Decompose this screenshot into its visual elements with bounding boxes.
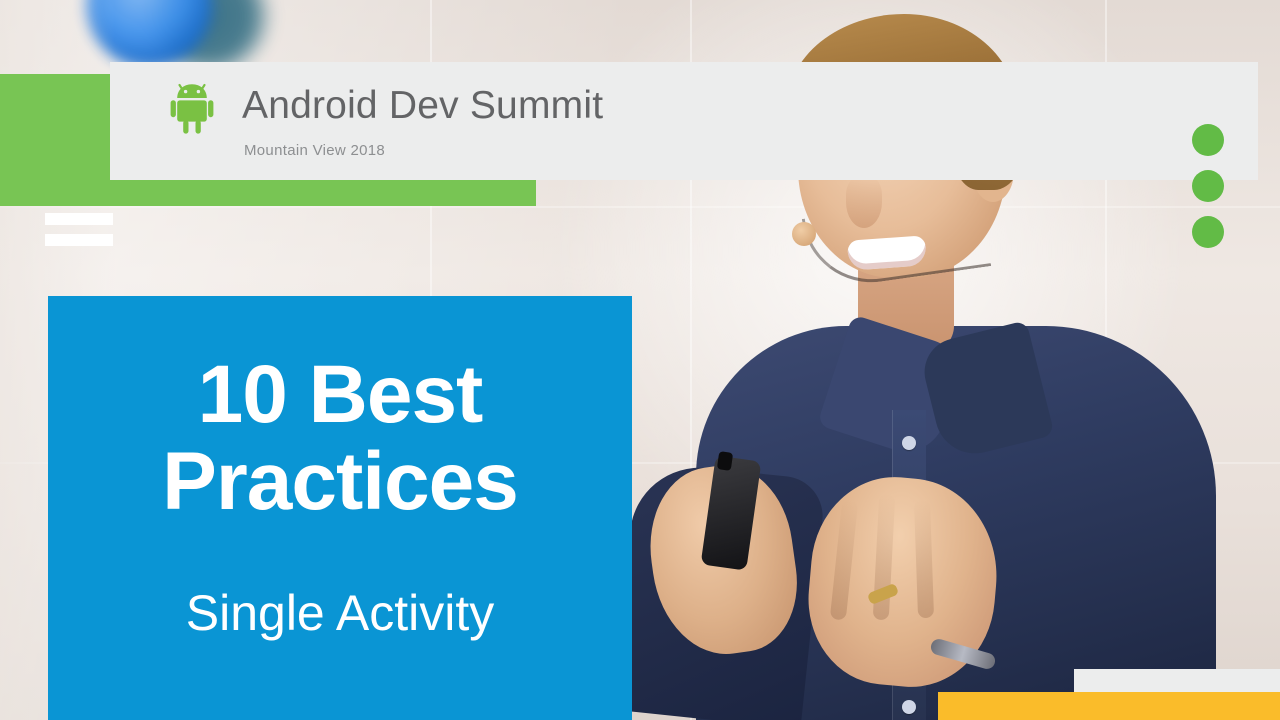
presenter-shirt-button xyxy=(902,436,916,450)
title-main: 10 Best Practices xyxy=(48,352,632,526)
kebab-dot xyxy=(1192,124,1224,156)
white-accent-strip xyxy=(1074,669,1280,693)
kebab-dot xyxy=(1192,216,1224,248)
event-banner-content: Android Dev Summit Mountain View 2018 xyxy=(170,76,603,159)
yellow-accent-block xyxy=(938,692,1280,720)
presentation-clicker-tip xyxy=(717,451,733,471)
title-line-1: 10 Best xyxy=(198,349,483,440)
android-robot-icon xyxy=(170,76,224,134)
event-subtitle: Mountain View 2018 xyxy=(244,142,603,159)
headset-mic-capsule xyxy=(792,222,816,246)
title-line-2: Practices xyxy=(48,439,632,526)
hamburger-bar xyxy=(45,234,113,246)
kebab-dot xyxy=(1192,170,1224,202)
event-banner: Android Dev Summit Mountain View 2018 xyxy=(110,62,1258,180)
thumbnail-stage: Android Dev Summit Mountain View 2018 10… xyxy=(0,0,1280,720)
presenter-shirt-button xyxy=(902,700,916,714)
kebab-menu-icon xyxy=(1192,124,1228,254)
title-card: 10 Best Practices Single Activity xyxy=(48,296,632,720)
title-subtitle: Single Activity xyxy=(48,584,632,642)
event-title: Android Dev Summit xyxy=(242,86,603,125)
hamburger-bar xyxy=(45,213,113,225)
brand-row: Android Dev Summit xyxy=(170,76,603,134)
green-accent-bar xyxy=(0,180,536,206)
